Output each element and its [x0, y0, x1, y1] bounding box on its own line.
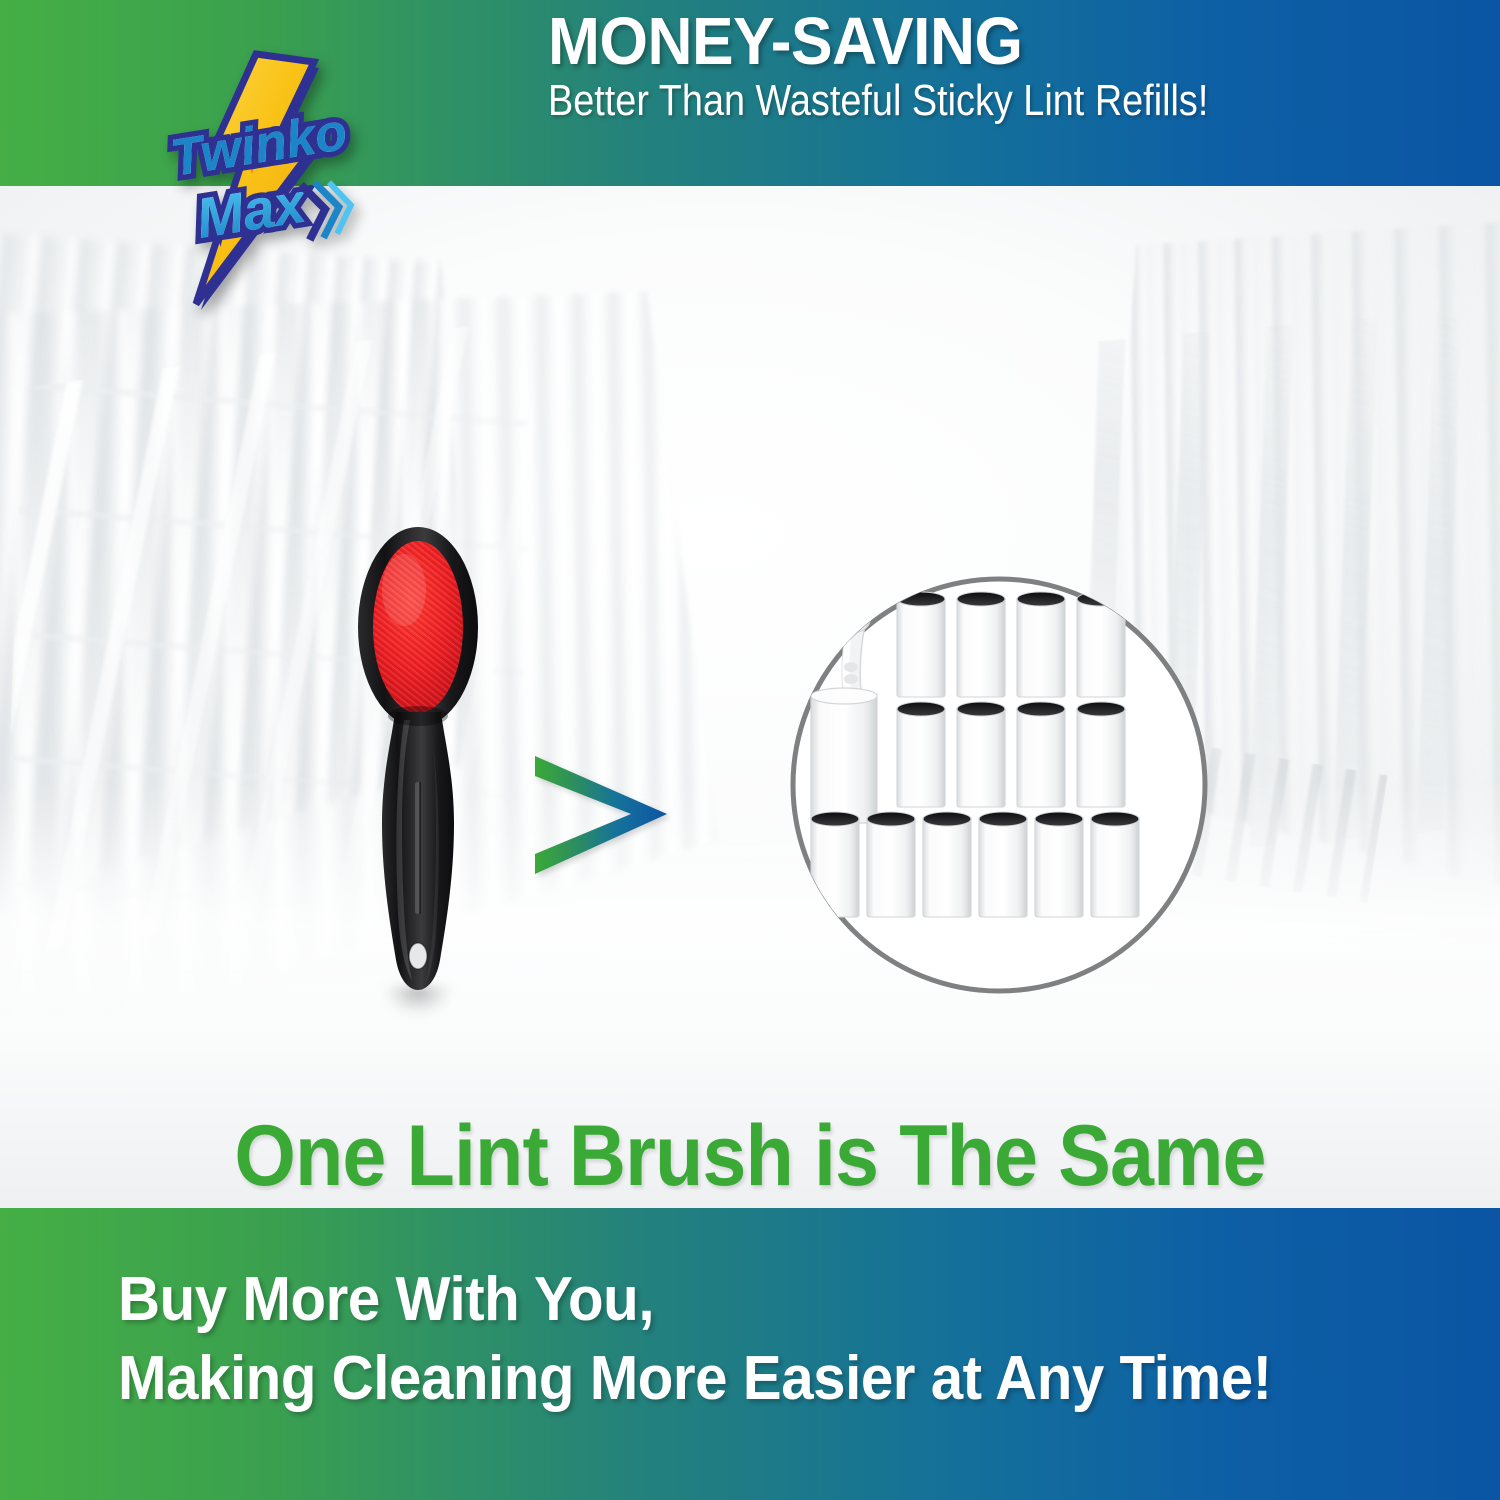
- headline-line-1: One Lint Brush is The Same: [60, 1106, 1440, 1207]
- sticky-lint-roller-refills-group: [785, 549, 1213, 1022]
- main-headline: One Lint Brush is The Same as Many Stick…: [0, 1106, 1500, 1208]
- lint-brush-product: [352, 524, 484, 992]
- headline-line-2: as Many Sticky Lint Refills!: [60, 1207, 1440, 1208]
- greater-than-chevron-icon: [527, 742, 717, 892]
- product-marketing-image: MONEY-SAVING Better Than Wasteful Sticky…: [0, 0, 1500, 1500]
- header-subtitle: Better Than Wasteful Sticky Lint Refills…: [548, 78, 1322, 124]
- header-title: MONEY-SAVING: [548, 8, 1385, 75]
- speed-lines-icon: [301, 178, 355, 241]
- footer-line-1: Buy More With You,: [118, 1260, 1359, 1339]
- header-text-block: MONEY-SAVING Better Than Wasteful Sticky…: [548, 8, 1448, 124]
- footer-text-block: Buy More With You, Making Cleaning More …: [118, 1260, 1438, 1419]
- brand-logo: Twinko Twinko Max Max: [148, 48, 363, 310]
- logo-wordmark: Twinko Twinko Max Max: [167, 103, 355, 250]
- product-scene: One Lint Brush is The Same as Many Stick…: [0, 186, 1500, 1208]
- footer-banner: Buy More With You, Making Cleaning More …: [0, 1208, 1500, 1500]
- footer-line-2: Making Cleaning More Easier at Any Time!: [118, 1339, 1359, 1418]
- brush-reflection: [372, 986, 464, 1056]
